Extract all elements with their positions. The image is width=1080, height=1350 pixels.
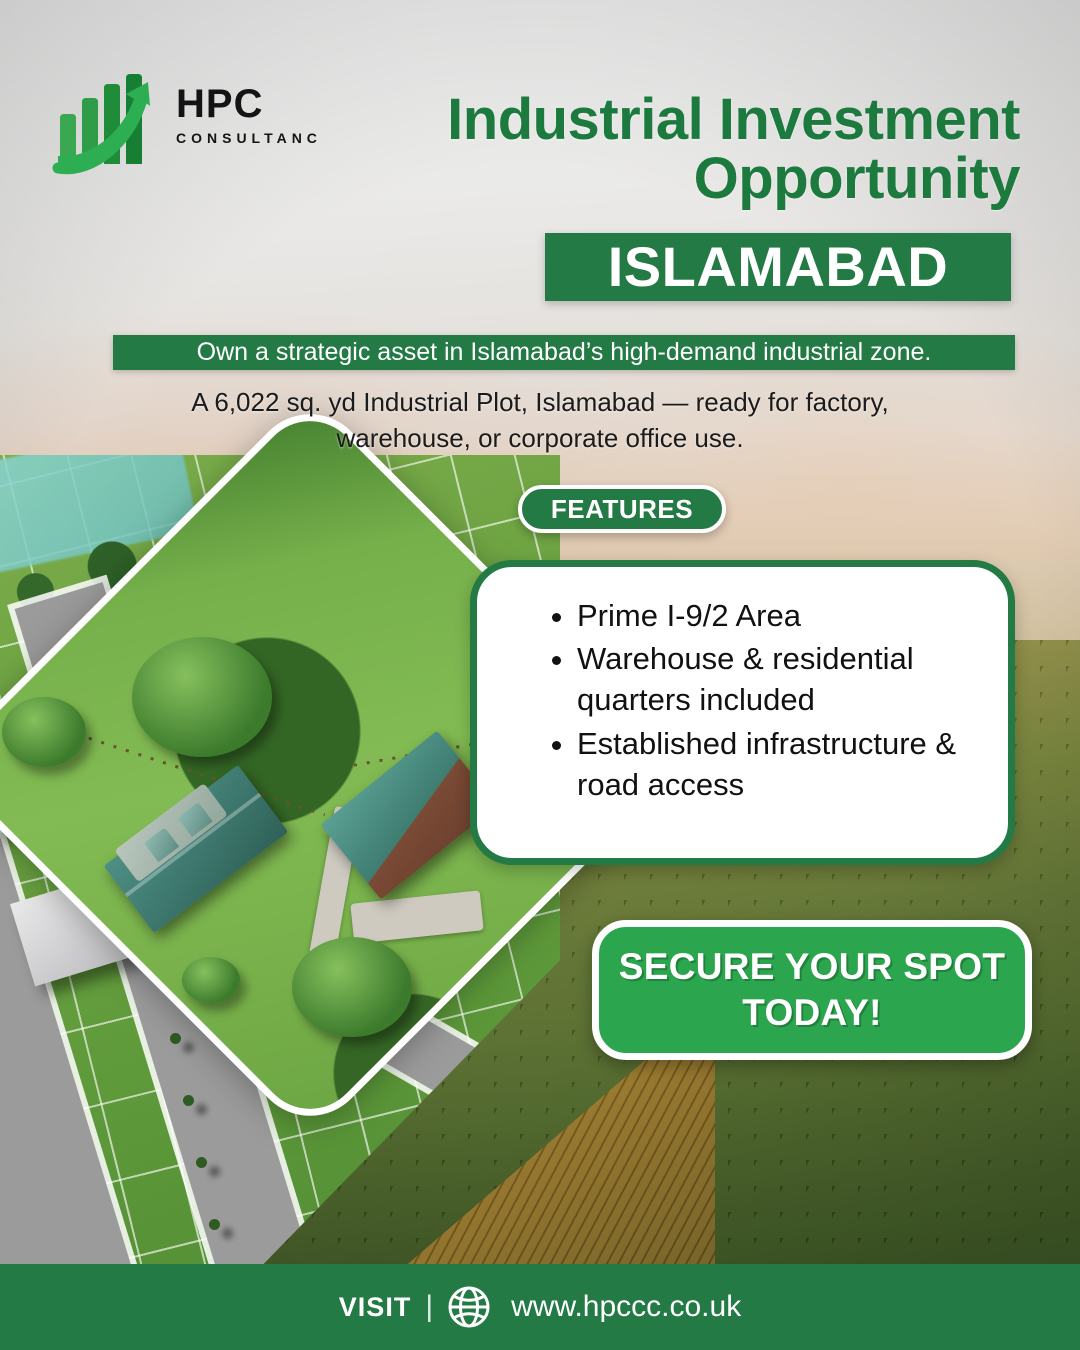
featured-property-photo — [10, 455, 550, 1275]
logo-tagline: CONSULTANC — [176, 131, 322, 145]
list-item: Warehouse & residential quarters include… — [577, 638, 992, 720]
tagline-text: Own a strategic asset in Islamabad’s hig… — [197, 340, 932, 365]
photo-bush — [2, 697, 86, 767]
footer-separator: | — [425, 1290, 433, 1324]
city-label: ISLAMABAD — [608, 239, 948, 295]
photo-driveway — [350, 890, 483, 943]
city-banner: ISLAMABAD — [545, 233, 1011, 301]
photo-house — [104, 765, 289, 933]
tagline-banner: Own a strategic asset in Islamabad’s hig… — [113, 335, 1015, 370]
property-description: A 6,022 sq. yd Industrial Plot, Islamaba… — [170, 385, 910, 457]
visit-label: VISIT — [339, 1292, 412, 1323]
photo-bush — [132, 637, 272, 757]
title-line-2: Opportunity — [320, 149, 1020, 208]
footer-bar: VISIT | www.hpccc.co.uk — [0, 1264, 1080, 1350]
globe-icon — [447, 1285, 491, 1329]
secure-your-spot-button[interactable]: SECURE YOUR SPOTTODAY! — [592, 920, 1032, 1060]
website-url[interactable]: www.hpccc.co.uk — [511, 1290, 741, 1324]
features-badge-label: FEATURES — [551, 494, 693, 525]
cta-label: SECURE YOUR SPOTTODAY! — [619, 944, 1006, 1037]
list-item: Prime I-9/2 Area — [577, 595, 992, 636]
photo-bush — [182, 957, 240, 1003]
cta-line-1: SECURE YOUR SPOT — [619, 946, 1006, 987]
page-title: Industrial Investment Opportunity — [320, 90, 1020, 208]
bar-chart-growth-arrow-icon — [52, 72, 170, 176]
title-line-1: Industrial Investment — [447, 87, 1020, 152]
photo-bush — [292, 937, 412, 1037]
features-list: Prime I-9/2 Area Warehouse & residential… — [577, 595, 992, 807]
brand-logo[interactable]: HPC CONSULTANC — [52, 72, 322, 182]
photo-bush — [60, 977, 114, 1021]
cta-line-2: TODAY! — [742, 992, 882, 1033]
features-card: Prime I-9/2 Area Warehouse & residential… — [470, 560, 1015, 865]
logo-wordmark: HPC — [176, 84, 322, 124]
features-badge: FEATURES — [518, 485, 726, 533]
list-item: Established infrastructure & road access — [577, 723, 992, 805]
